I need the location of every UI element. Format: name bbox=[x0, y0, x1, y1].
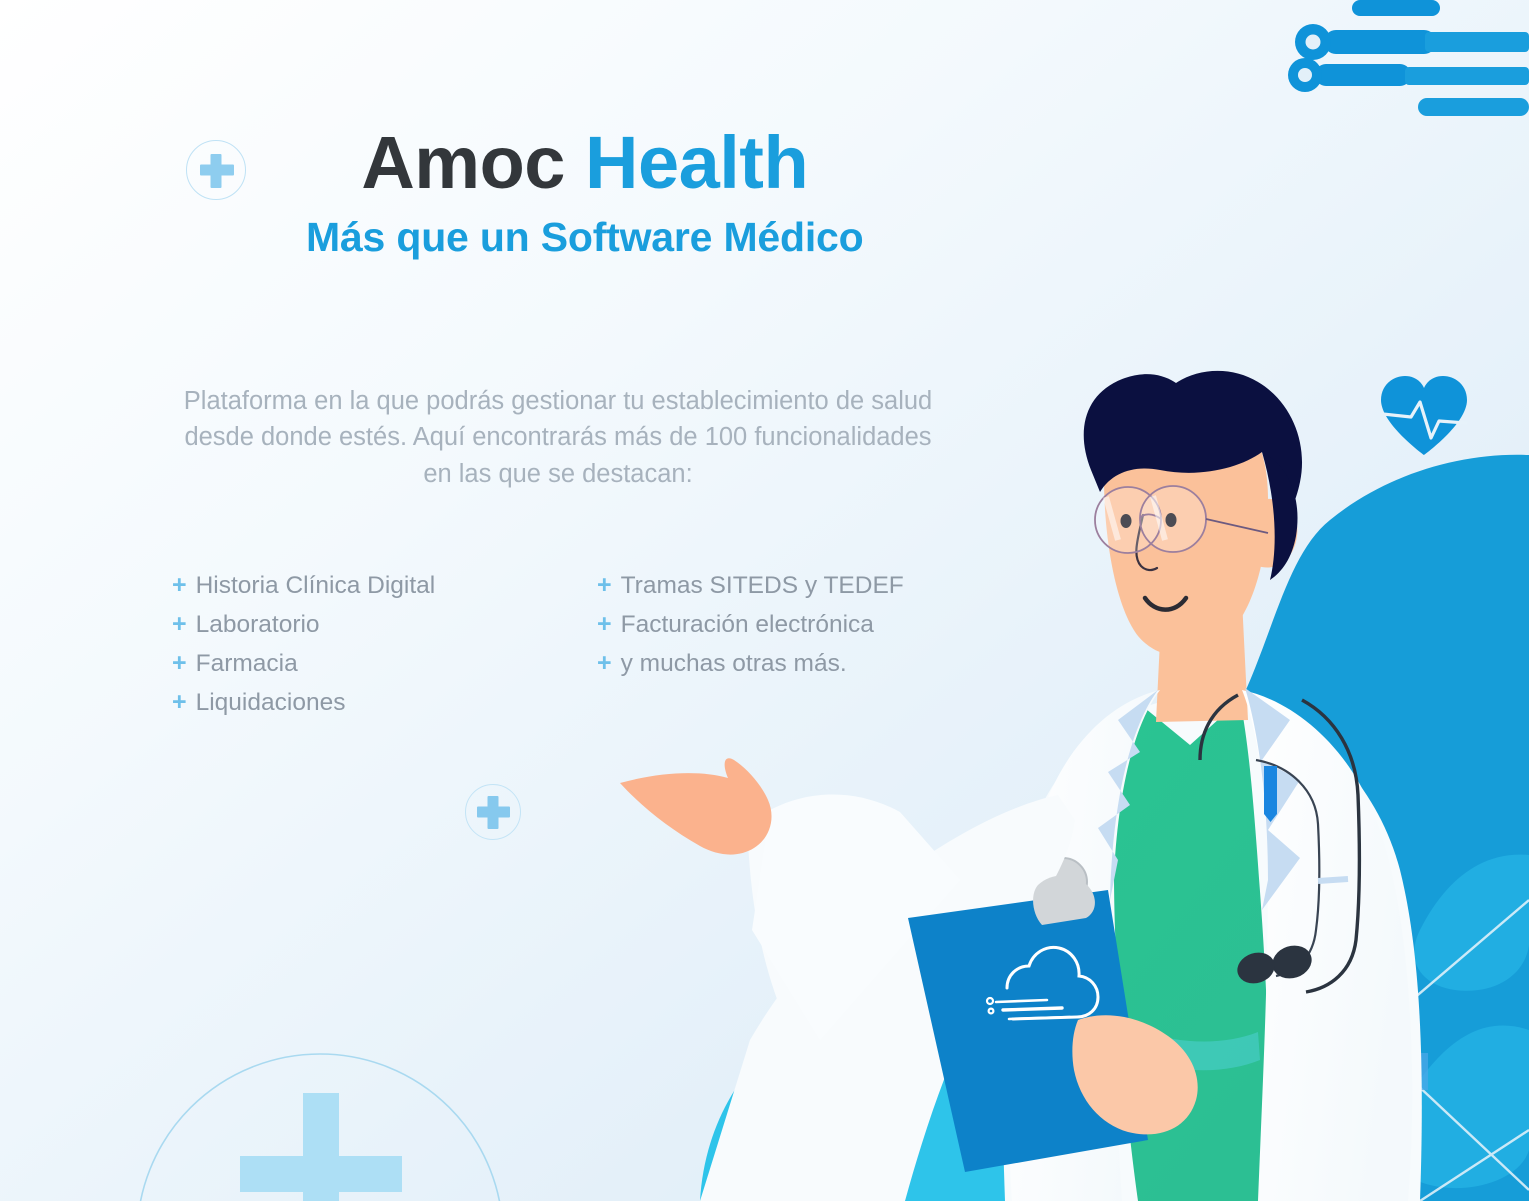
intro-paragraph: Plataforma en la que podrás gestionar tu… bbox=[178, 383, 938, 492]
list-item: + Historia Clínica Digital bbox=[172, 566, 597, 605]
list-item: + Facturación electrónica bbox=[597, 605, 972, 644]
list-item-label: Facturación electrónica bbox=[621, 606, 874, 644]
list-item-label: Tramas SITEDS y TEDEF bbox=[621, 567, 904, 605]
plus-bullet-icon: + bbox=[172, 683, 187, 721]
feature-column-left: + Historia Clínica Digital + Laboratorio… bbox=[172, 566, 597, 722]
list-item: + Liquidaciones bbox=[172, 683, 597, 722]
list-item-label: Historia Clínica Digital bbox=[196, 567, 436, 605]
brand-text-wrap: Amoc Health Más que un Software Médico bbox=[306, 126, 864, 261]
brand-block: Amoc Health Más que un Software Médico bbox=[186, 126, 864, 261]
brand-name-part2: Health bbox=[585, 121, 808, 204]
plus-bullet-icon: + bbox=[597, 644, 612, 682]
hero-banner: Amoc Health Más que un Software Médico P… bbox=[0, 0, 1529, 1201]
list-item: + Farmacia bbox=[172, 644, 597, 683]
plus-bullet-icon: + bbox=[172, 644, 187, 682]
feature-column-right: + Tramas SITEDS y TEDEF + Facturación el… bbox=[597, 566, 972, 722]
list-item: + y muchas otras más. bbox=[597, 644, 972, 683]
plus-bullet-icon: + bbox=[172, 605, 187, 643]
page-title: Amoc Health bbox=[306, 126, 864, 200]
brand-name-part1: Amoc bbox=[361, 121, 565, 204]
feature-list: + Historia Clínica Digital + Laboratorio… bbox=[172, 566, 972, 722]
brand-tagline: Más que un Software Médico bbox=[306, 214, 864, 261]
plus-bullet-icon: + bbox=[597, 605, 612, 643]
list-item-label: Liquidaciones bbox=[196, 684, 346, 722]
plus-icon bbox=[186, 140, 246, 200]
plus-bullet-icon: + bbox=[597, 566, 612, 604]
list-item: + Tramas SITEDS y TEDEF bbox=[597, 566, 972, 605]
list-item: + Laboratorio bbox=[172, 605, 597, 644]
plus-bullet-icon: + bbox=[172, 566, 187, 604]
list-item-label: Laboratorio bbox=[196, 606, 320, 644]
list-item-label: y muchas otras más. bbox=[621, 645, 847, 683]
pen bbox=[1264, 766, 1277, 822]
list-item-label: Farmacia bbox=[196, 645, 298, 683]
plus-icon bbox=[465, 784, 521, 840]
coat-pocket-line bbox=[1318, 879, 1348, 881]
